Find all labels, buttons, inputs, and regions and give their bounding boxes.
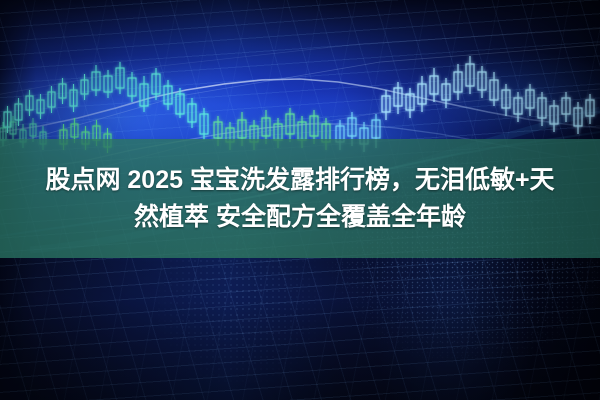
trend-streak-1 [0,44,600,150]
caption-line-2: 然植萃 安全配方全覆盖全年龄 [134,199,466,236]
caption-band: 股点网 2025 宝宝洗发露排行榜，无泪低敏+天 然植萃 安全配方全覆盖全年龄 [0,139,600,258]
caption-line-1: 股点网 2025 宝宝洗发露排行榜，无泪低敏+天 [45,162,554,199]
promotional-banner-image: 股点网 2025 宝宝洗发露排行榜，无泪低敏+天 然植萃 安全配方全覆盖全年龄 [0,0,600,400]
candle-cluster-left [4,62,208,140]
trend-streak-3 [0,28,600,96]
candle-cluster-right-upper [382,56,594,134]
trend-line-arch [0,79,600,132]
